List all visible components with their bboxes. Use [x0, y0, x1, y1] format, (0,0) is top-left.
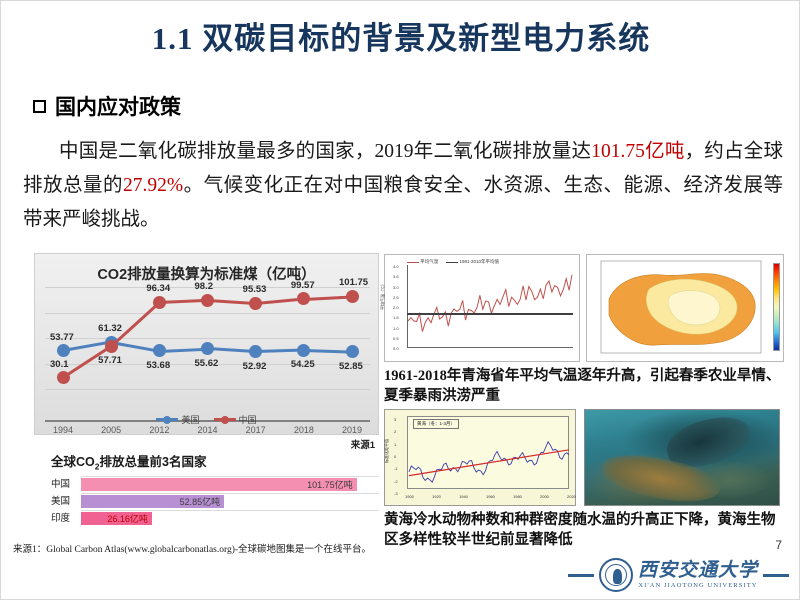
x-tick-label: 2012 [136, 425, 182, 435]
data-label: 53.68 [146, 360, 170, 371]
qinghai-temperature-map [586, 254, 784, 362]
qinghai-series-svg [385, 255, 581, 363]
line-chart-legend: 美国 中国 [35, 413, 378, 426]
data-label: 101.75 [339, 277, 368, 288]
paragraph-highlight-2: 27.92% [123, 175, 183, 196]
legend-label-us: 美国 [181, 413, 199, 426]
data-point [153, 344, 166, 357]
bar-chart-top3: 全球CO2排放总量前3名国家 中国101.75亿吨美国52.85亿吨印度26.1… [51, 451, 379, 527]
data-label: 30.1 [50, 359, 69, 370]
line-chart-plot-area: 53.7761.3253.6855.6252.9254.2552.8530.15… [45, 287, 370, 389]
x-tick-label: 2017 [233, 425, 279, 435]
bar-track: 101.75亿吨 [81, 476, 379, 491]
data-label: 61.32 [98, 323, 122, 334]
data-label: 52.85 [339, 361, 363, 372]
left-column: CO2排放量换算为标准煤（亿吨） 53.7761.3253.6855.6252.… [34, 253, 379, 435]
bar-track: 52.85亿吨 [81, 493, 379, 508]
logo-text-block: 西安交通大学 XI'AN JIAOTONG UNIVERSITY [638, 561, 758, 589]
university-logo: 西安交通大学 XI'AN JIAOTONG UNIVERSITY [568, 553, 789, 597]
bar-chart-row: 中国101.75亿吨 [51, 476, 379, 491]
bar-fill: 52.85亿吨 [81, 495, 224, 508]
data-point [297, 344, 310, 357]
data-point [249, 345, 262, 358]
data-point [201, 294, 214, 307]
data-label: 95.53 [243, 284, 267, 295]
x-tick-label: 2014 [185, 425, 231, 435]
x-tick-label: 2019 [329, 425, 375, 435]
data-label: 57.71 [98, 355, 122, 366]
data-label: 53.77 [50, 332, 74, 343]
data-label: 96.34 [146, 283, 170, 294]
line-segment [304, 349, 352, 353]
bar-fill: 26.16亿吨 [81, 512, 152, 525]
paragraph-highlight-1: 101.75亿吨 [591, 141, 684, 162]
bullet-heading-label: 国内应对政策 [55, 91, 181, 121]
underwater-photo [584, 409, 780, 506]
university-seal-icon [599, 558, 633, 592]
legend-item-us: 美国 [156, 413, 199, 426]
x-tick-label: 2018 [281, 425, 327, 435]
bullet-heading: 国内应对政策 [33, 91, 181, 121]
caption-yellowsea: 黄海冷水动物种数和种群密度随水温的升高正下降，黄海生物区多样性较半世纪前显著降低 [384, 510, 784, 550]
yellowsea-panel-row: 黄海（冬：1-3月） 标准化距平值 3210-1-2-3 19001920194… [384, 409, 784, 506]
data-point [346, 345, 359, 358]
body-paragraph: 中国是二氧化碳排放量最多的国家，2019年二氧化碳排放量达101.75亿吨，约占… [23, 135, 783, 237]
data-label: 54.25 [291, 359, 315, 370]
right-column: 平均气温 1981-2010年平均值 平均气温（℃） 4.03.53.02.52… [384, 254, 784, 550]
qinghai-temperature-chart: 平均气温 1981-2010年平均值 平均气温（℃） 4.03.53.02.52… [384, 254, 580, 362]
yellowsea-anomaly-chart: 黄海（冬：1-3月） 标准化距平值 3210-1-2-3 19001920194… [384, 409, 576, 506]
bar-value-label: 26.16亿吨 [107, 512, 148, 525]
paragraph-part-1: 中国是二氧化碳排放量最多的国家，2019年二氧化碳排放量达 [59, 141, 591, 162]
yellowsea-series-svg [385, 410, 577, 507]
data-label: 55.62 [195, 358, 219, 369]
footer-source-note: 来源1：Global Carbon Atlas(www.globalcarbon… [13, 541, 371, 555]
bar-value-label: 101.75亿吨 [307, 478, 353, 491]
legend-label-cn: 中国 [239, 413, 257, 426]
map-color-bar [773, 263, 780, 351]
chart-source-tag: 来源1 [351, 437, 375, 451]
bar-chart-row: 印度26.16亿吨 [51, 510, 379, 525]
page-number: 7 [775, 538, 782, 552]
photo-region-c [692, 462, 770, 498]
qinghai-map-svg [587, 255, 784, 362]
bar-category-label: 中国 [51, 476, 81, 490]
logo-rule-left [568, 574, 594, 577]
data-point [57, 344, 70, 357]
grid-line [45, 313, 370, 314]
square-bullet-icon [33, 100, 46, 113]
line-chart-co2: CO2排放量换算为标准煤（亿吨） 53.7761.3253.6855.6252.… [34, 253, 379, 435]
data-label: 99.57 [291, 280, 315, 291]
x-tick-label: 1994 [40, 425, 86, 435]
bar-chart-row: 美国52.85亿吨 [51, 493, 379, 508]
grid-line [45, 389, 370, 390]
legend-marker-cn-icon [214, 418, 236, 421]
data-point [297, 292, 310, 305]
bar-chart-rows: 中国101.75亿吨美国52.85亿吨印度26.16亿吨 [51, 476, 379, 525]
data-point [153, 296, 166, 309]
data-label: 52.92 [243, 361, 267, 372]
bar-category-label: 美国 [51, 493, 81, 507]
logo-rule-right [763, 574, 789, 577]
x-tick-label: 2005 [88, 425, 134, 435]
slide-canvas: 1.1 双碳目标的背景及新型电力系统 国内应对政策 中国是二氧化碳排放量最多的国… [0, 0, 800, 600]
data-label: 98.2 [195, 281, 214, 292]
data-point [105, 340, 118, 353]
qinghai-reference-line [407, 313, 573, 315]
qinghai-panel-row: 平均气温 1981-2010年平均值 平均气温（℃） 4.03.53.02.52… [384, 254, 784, 362]
logo-name-en: XI'AN JIAOTONG UNIVERSITY [638, 582, 758, 589]
page-title: 1.1 双碳目标的背景及新型电力系统 [1, 13, 800, 58]
data-point [249, 297, 262, 310]
bar-fill: 101.75亿吨 [81, 478, 357, 491]
bar-chart-title: 全球CO2排放总量前3名国家 [51, 451, 379, 472]
bar-category-label: 印度 [51, 510, 81, 524]
data-point [346, 290, 359, 303]
legend-marker-us-icon [156, 418, 178, 421]
data-point [201, 342, 214, 355]
line-segment [304, 295, 352, 300]
legend-item-cn: 中国 [214, 413, 257, 426]
grid-line [45, 338, 370, 339]
bar-track: 26.16亿吨 [81, 510, 379, 525]
caption-qinghai: 1961-2018年青海省年平均气温逐年升高，引起春季农业旱情、夏季暴雨洪涝严重 [384, 366, 784, 406]
logo-name-cn: 西安交通大学 [638, 561, 758, 580]
data-point [57, 371, 70, 384]
bar-value-label: 52.85亿吨 [180, 495, 221, 508]
